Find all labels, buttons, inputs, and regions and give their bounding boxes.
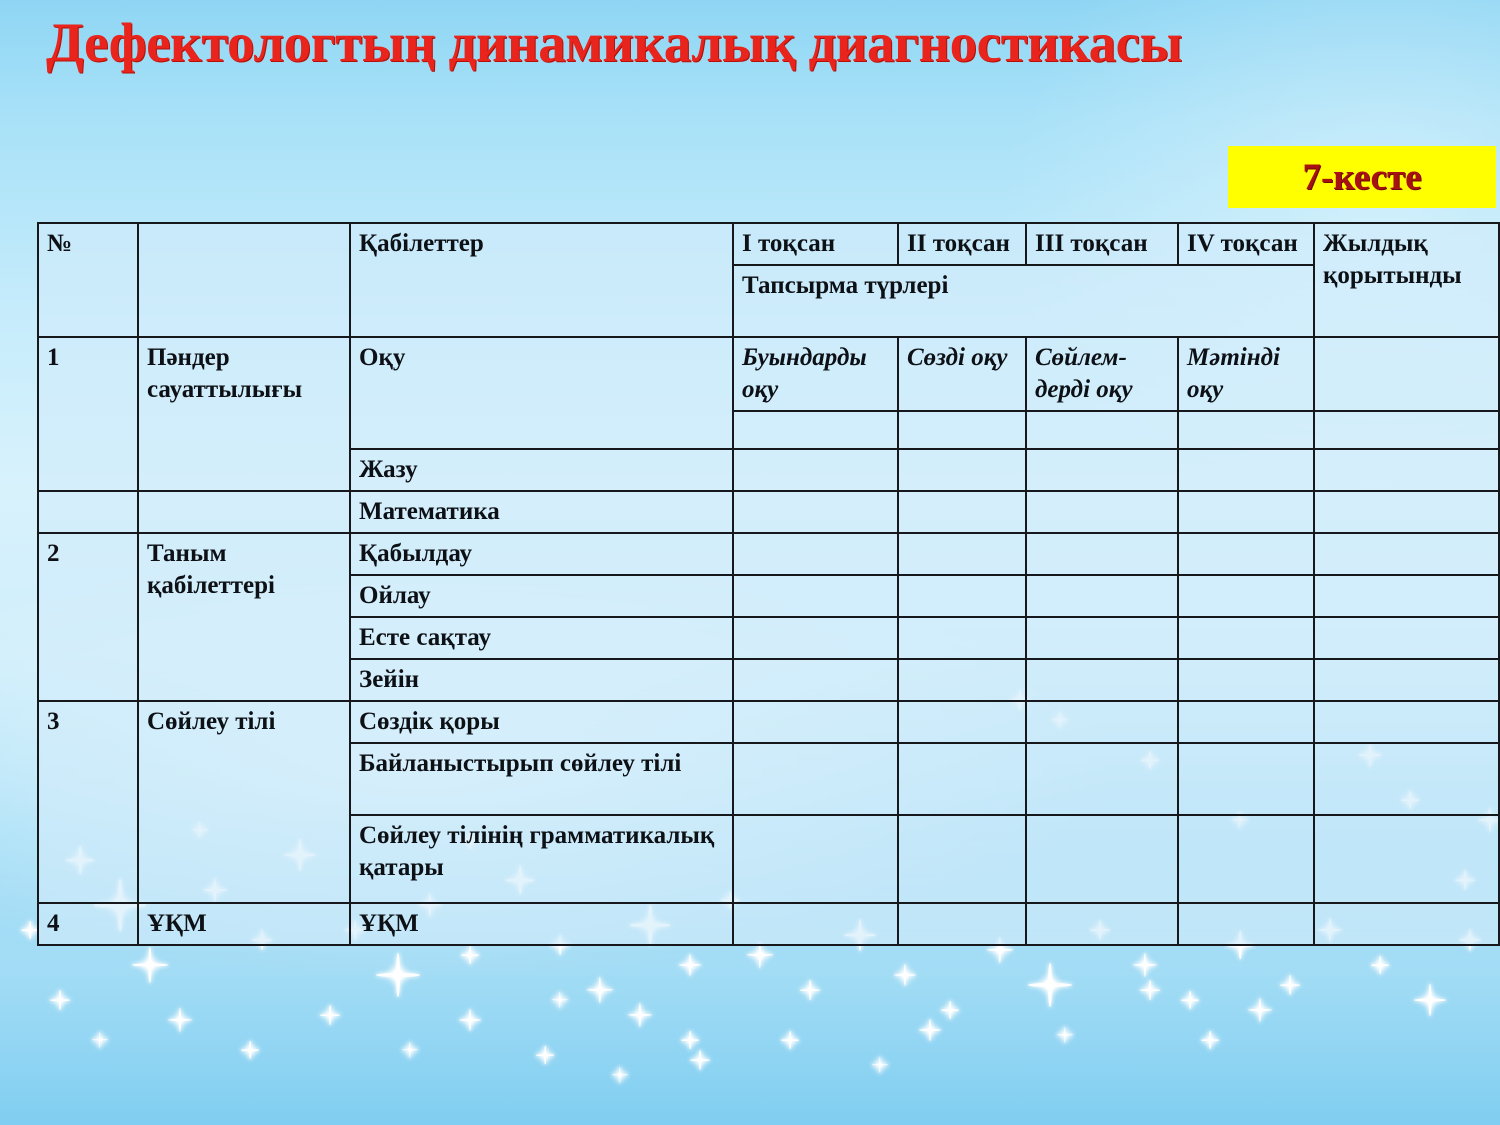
score-cell <box>1026 411 1178 449</box>
score-cell <box>898 903 1026 945</box>
score-cell <box>733 701 898 743</box>
score-cell <box>733 815 898 903</box>
score-cell <box>1314 449 1499 491</box>
ability-1-1: Жазу <box>350 449 733 491</box>
ability-3-0: Сөздік қоры <box>350 701 733 743</box>
score-cell <box>1314 659 1499 701</box>
ability-2-3: Зейін <box>350 659 733 701</box>
score-cell <box>1026 815 1178 903</box>
score-cell <box>733 903 898 945</box>
task-year <box>1314 337 1499 411</box>
score-cell <box>898 411 1026 449</box>
score-cell <box>1178 903 1314 945</box>
row-number-1-cont <box>38 491 138 533</box>
ability-4-0: ҰҚМ <box>350 903 733 945</box>
header-cell-quarter-1: I тоқсан <box>733 223 898 265</box>
task-q1: Буындарды оқу <box>733 337 898 411</box>
task-q2: Сөзді оқу <box>898 337 1026 411</box>
score-cell <box>1314 491 1499 533</box>
ability-1-2: Математика <box>350 491 733 533</box>
score-cell <box>1314 617 1499 659</box>
score-cell <box>1314 533 1499 575</box>
score-cell <box>1314 701 1499 743</box>
score-cell <box>1026 617 1178 659</box>
group-name-1: Пәндер сауаттылығы <box>138 337 350 491</box>
group-name-4: ҰҚМ <box>138 903 350 945</box>
score-cell <box>1178 533 1314 575</box>
table-header-row-primary: № Қабілеттер I тоқсан II тоқсан III тоқс… <box>38 223 1499 265</box>
score-cell <box>1178 701 1314 743</box>
diagnostics-table: № Қабілеттер I тоқсан II тоқсан III тоқс… <box>37 222 1500 946</box>
header-cell-quarter-4: IV тоқсан <box>1178 223 1314 265</box>
header-cell-quarter-3: III тоқсан <box>1026 223 1178 265</box>
task-q3: Сөйлем-дерді оқу <box>1026 337 1178 411</box>
score-cell <box>733 575 898 617</box>
score-cell <box>1178 575 1314 617</box>
table-row: 1 Пәндер сауаттылығы Оқу Буындарды оқу С… <box>38 337 1499 411</box>
table-row: Математика <box>38 491 1499 533</box>
header-cell-group <box>138 223 350 337</box>
score-cell <box>733 491 898 533</box>
score-cell <box>898 491 1026 533</box>
score-cell <box>1178 449 1314 491</box>
score-cell <box>1026 491 1178 533</box>
row-number-4: 4 <box>38 903 138 945</box>
score-cell <box>733 449 898 491</box>
score-cell <box>733 659 898 701</box>
score-cell <box>898 575 1026 617</box>
header-cell-quarter-2: II тоқсан <box>898 223 1026 265</box>
page-title: Дефектологтың динамикалық диагностикасы <box>46 14 1182 72</box>
score-cell <box>1026 743 1178 815</box>
ability-2-1: Ойлау <box>350 575 733 617</box>
header-cell-number: № <box>38 223 138 337</box>
score-cell <box>1314 575 1499 617</box>
ability-2-0: Қабылдау <box>350 533 733 575</box>
row-number-2: 2 <box>38 533 138 701</box>
score-cell <box>1178 659 1314 701</box>
group-name-1-cont <box>138 491 350 533</box>
task-q4: Мәтінді оқу <box>1178 337 1314 411</box>
score-cell <box>1026 701 1178 743</box>
score-cell <box>898 743 1026 815</box>
ability-2-2: Есте сақтау <box>350 617 733 659</box>
score-cell <box>898 617 1026 659</box>
table-number-badge: 7-кесте <box>1228 146 1496 208</box>
score-cell <box>733 743 898 815</box>
table-row: 4 ҰҚМ ҰҚМ <box>38 903 1499 945</box>
row-number-1: 1 <box>38 337 138 491</box>
row-number-3: 3 <box>38 701 138 903</box>
score-cell <box>1314 815 1499 903</box>
table-row: 2 Таным қабілеттері Қабылдау <box>38 533 1499 575</box>
score-cell <box>733 533 898 575</box>
score-cell <box>1026 449 1178 491</box>
group-name-3: Сөйлеу тілі <box>138 701 350 903</box>
score-cell <box>1026 903 1178 945</box>
score-cell <box>1178 491 1314 533</box>
score-cell <box>898 533 1026 575</box>
score-cell <box>898 701 1026 743</box>
score-cell <box>733 617 898 659</box>
score-cell <box>1178 815 1314 903</box>
score-cell <box>1026 575 1178 617</box>
ability-1-0: Оқу <box>350 337 733 449</box>
score-cell <box>898 815 1026 903</box>
score-cell <box>1314 903 1499 945</box>
score-cell <box>733 411 898 449</box>
group-name-2: Таным қабілеттері <box>138 533 350 701</box>
diagnostics-table-wrapper: № Қабілеттер I тоқсан II тоқсан III тоқс… <box>37 222 1498 946</box>
score-cell <box>898 449 1026 491</box>
score-cell <box>1178 411 1314 449</box>
score-cell <box>1026 659 1178 701</box>
score-cell <box>898 659 1026 701</box>
score-cell <box>1314 411 1499 449</box>
header-cell-task-types: Тапсырма түрлері <box>733 265 1314 337</box>
ability-3-1: Байланыстырып сөйлеу тілі <box>350 743 733 815</box>
ability-3-2: Сөйлеу тілінің грамматикалық қатары <box>350 815 733 903</box>
score-cell <box>1178 743 1314 815</box>
score-cell <box>1178 617 1314 659</box>
score-cell <box>1026 533 1178 575</box>
table-row: 3 Сөйлеу тілі Сөздік қоры <box>38 701 1499 743</box>
score-cell <box>1314 743 1499 815</box>
header-cell-ability: Қабілеттер <box>350 223 733 337</box>
header-cell-year-summary: Жылдық қорытынды <box>1314 223 1499 337</box>
